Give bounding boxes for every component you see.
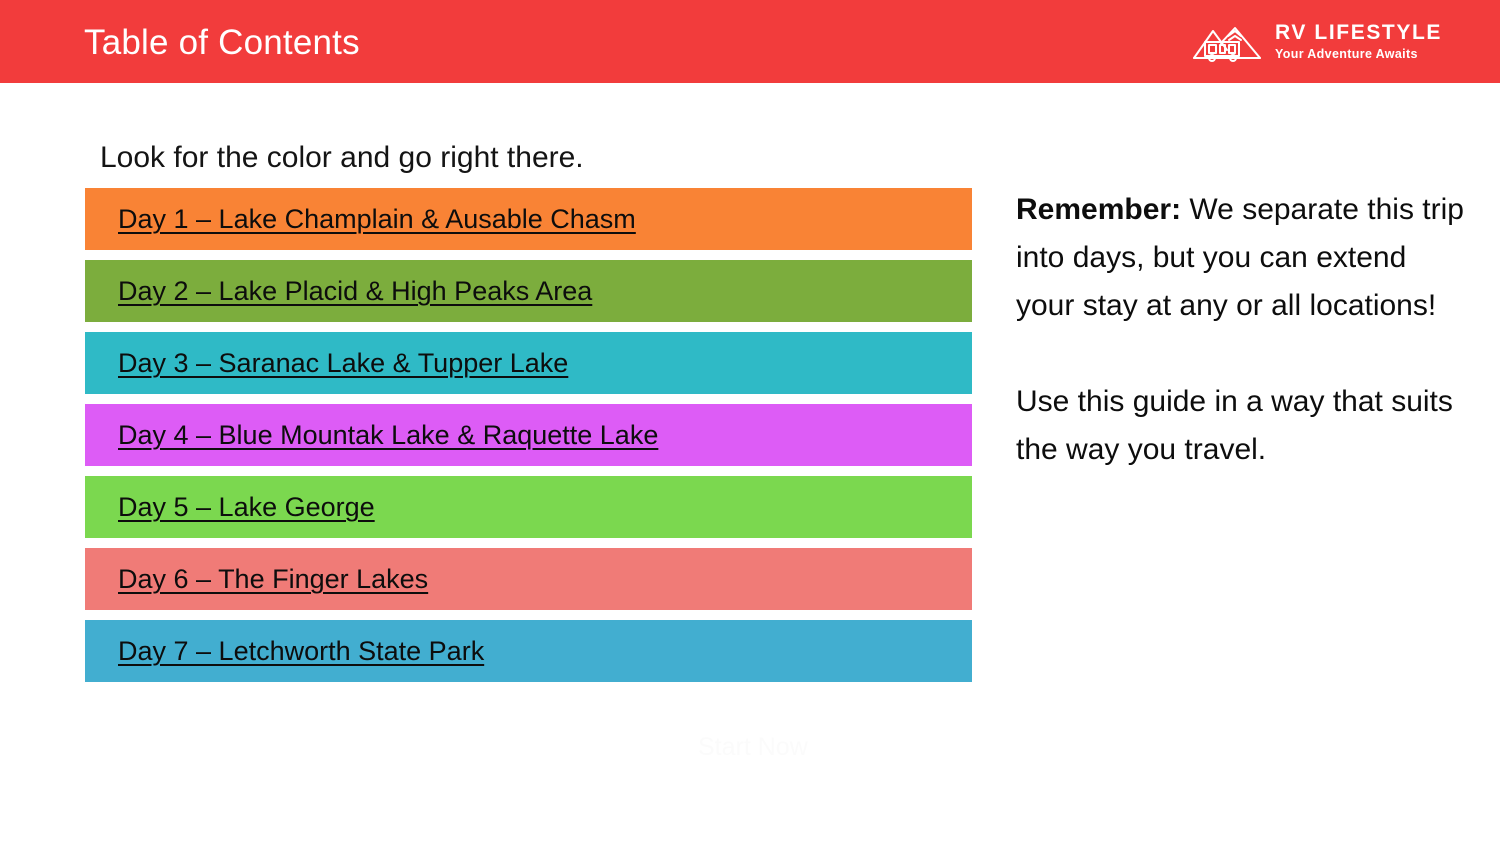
toc-link-day-1[interactable]: Day 1 – Lake Champlain & Ausable Chasm: [118, 202, 636, 236]
brand-logo[interactable]: RV LIFESTYLE Your Adventure Awaits: [1191, 14, 1442, 69]
note-lead-label: Remember:: [1016, 193, 1181, 226]
toc-link-day-6[interactable]: Day 6 – The Finger Lakes: [118, 562, 428, 596]
page-header: Table of Contents: [0, 0, 1500, 83]
intro-instruction: Look for the color and go right there.: [100, 138, 584, 178]
toc-row[interactable]: Day 3 – Saranac Lake & Tupper Lake: [85, 332, 972, 394]
sidebar-note: Remember: We separate this trip into day…: [1016, 186, 1464, 474]
table-of-contents-list: Day 1 – Lake Champlain & Ausable ChasmDa…: [85, 188, 972, 682]
page-title: Table of Contents: [84, 23, 360, 63]
note-spacer: [1016, 330, 1464, 378]
brand-name: RV LIFESTYLE: [1275, 22, 1442, 44]
toc-link-day-2[interactable]: Day 2 – Lake Placid & High Peaks Area: [118, 274, 592, 308]
toc-row[interactable]: Day 2 – Lake Placid & High Peaks Area: [85, 260, 972, 322]
toc-row[interactable]: Day 1 – Lake Champlain & Ausable Chasm: [85, 188, 972, 250]
rv-mountains-logo-icon: [1191, 18, 1263, 66]
brand-wordmark: RV LIFESTYLE Your Adventure Awaits: [1275, 22, 1442, 61]
toc-row[interactable]: Day 7 – Letchworth State Park: [85, 620, 972, 682]
toc-link-day-3[interactable]: Day 3 – Saranac Lake & Tupper Lake: [118, 346, 568, 380]
toc-link-day-4[interactable]: Day 4 – Blue Mountak Lake & Raquette Lak…: [118, 418, 658, 452]
start-now-watermark[interactable]: Start Now: [698, 732, 808, 762]
toc-row[interactable]: Day 5 – Lake George: [85, 476, 972, 538]
note-paragraph-1: Remember: We separate this trip into day…: [1016, 186, 1464, 330]
toc-link-day-7[interactable]: Day 7 – Letchworth State Park: [118, 634, 484, 668]
toc-link-day-5[interactable]: Day 5 – Lake George: [118, 490, 375, 524]
note-paragraph-2: Use this guide in a way that suits the w…: [1016, 378, 1464, 474]
toc-row[interactable]: Day 6 – The Finger Lakes: [85, 548, 972, 610]
brand-tagline: Your Adventure Awaits: [1275, 47, 1442, 61]
toc-row[interactable]: Day 4 – Blue Mountak Lake & Raquette Lak…: [85, 404, 972, 466]
